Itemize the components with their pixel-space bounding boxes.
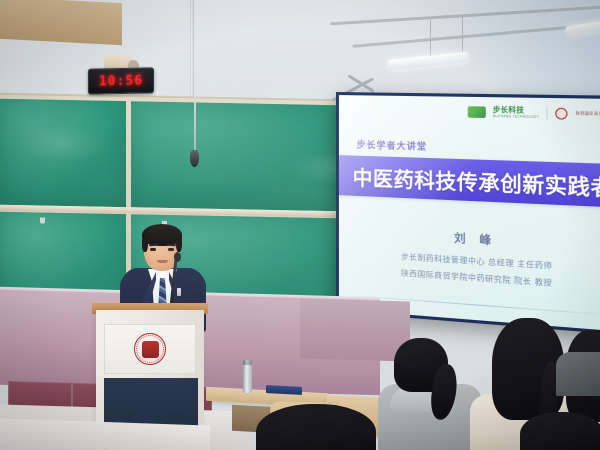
chalkboard-panel bbox=[0, 99, 126, 207]
buchang-logo-icon bbox=[467, 106, 485, 118]
chalk-smudge bbox=[18, 123, 106, 165]
logo-divider bbox=[547, 108, 548, 120]
slide-title: 中医药科技传承创新实践者的奋斗感悟 bbox=[353, 161, 600, 207]
hair-side bbox=[142, 234, 148, 252]
student-hair bbox=[520, 412, 600, 450]
logo-primary-en: BUCHANG TECHNOLOGY bbox=[493, 115, 539, 119]
hanging-microphone bbox=[190, 150, 199, 167]
podium-microphone bbox=[174, 252, 181, 262]
mouth bbox=[157, 260, 168, 263]
podium-front-panel bbox=[104, 324, 196, 374]
lapel-badge bbox=[177, 288, 181, 296]
projected-slide: 步长科技 BUCHANG TECHNOLOGY 陕西国际商贸学院 步长学者大讲堂… bbox=[339, 95, 600, 332]
hair-side bbox=[176, 234, 182, 252]
eye-right bbox=[168, 248, 174, 251]
thermos-flask bbox=[243, 363, 252, 393]
university-seal-icon bbox=[556, 108, 568, 120]
thermos-cap bbox=[243, 360, 252, 365]
crest-ring bbox=[136, 335, 164, 363]
slide-title-band: 中医药科技传承创新实践者的奋斗感悟 bbox=[339, 155, 600, 208]
student-clothing bbox=[556, 352, 600, 396]
logo-text-block: 步长科技 BUCHANG TECHNOLOGY bbox=[493, 107, 539, 120]
hanging-microphone-wire bbox=[194, 96, 196, 152]
chalkboard-panel bbox=[131, 101, 337, 211]
led-wall-clock: 10:56 bbox=[88, 67, 154, 94]
student-shoulder-shadow bbox=[556, 352, 600, 394]
student-desk-front bbox=[0, 0, 122, 45]
logo-secondary: 陕西国际商贸学院 bbox=[576, 112, 600, 117]
clock-time-display: 10:56 bbox=[99, 73, 143, 89]
lecture-hall-photo: 10:56 步长科技 BUCHANG TECHNOLOGY 陕西国际商贸学院 步… bbox=[0, 0, 600, 450]
student-foreground-right bbox=[520, 412, 600, 450]
student-ponytail-grey-hoodie bbox=[382, 338, 478, 450]
student-hair bbox=[256, 404, 376, 450]
slide-logo-group: 步长科技 BUCHANG TECHNOLOGY 陕西国际商贸学院 bbox=[467, 106, 600, 121]
slide-eyebrow: 步长学者大讲堂 bbox=[357, 138, 428, 153]
student-foreground-center bbox=[256, 404, 376, 450]
eye-left bbox=[150, 248, 156, 251]
board-clip bbox=[40, 218, 45, 224]
university-crest-icon bbox=[134, 333, 166, 365]
